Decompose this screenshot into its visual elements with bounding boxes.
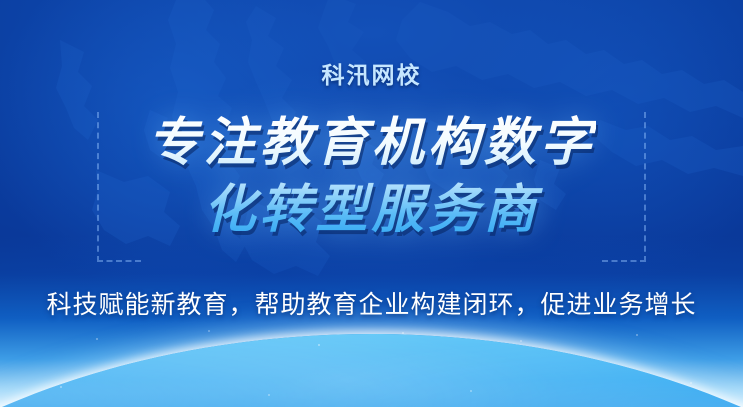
brand-name: 科汛网校 xyxy=(322,56,422,90)
promo-banner: 科汛网校 专注教育机构数字 化转型服务商 科技赋能新教育，帮助教育企业构建闭环，… xyxy=(0,0,743,407)
banner-content: 科汛网校 专注教育机构数字 化转型服务商 科技赋能新教育，帮助教育企业构建闭环，… xyxy=(0,0,743,407)
corner-bracket-right-icon xyxy=(602,112,646,262)
corner-bracket-left-icon xyxy=(97,112,141,262)
headline: 专注教育机构数字 化转型服务商 xyxy=(147,110,595,243)
headline-block: 专注教育机构数字 化转型服务商 xyxy=(101,106,641,249)
headline-line-1: 专注教育机构数字 xyxy=(147,110,595,177)
subtitle: 科技赋能新教育，帮助教育企业构建闭环，促进业务增长 xyxy=(46,285,696,321)
headline-line-2: 化转型服务商 xyxy=(147,177,595,244)
